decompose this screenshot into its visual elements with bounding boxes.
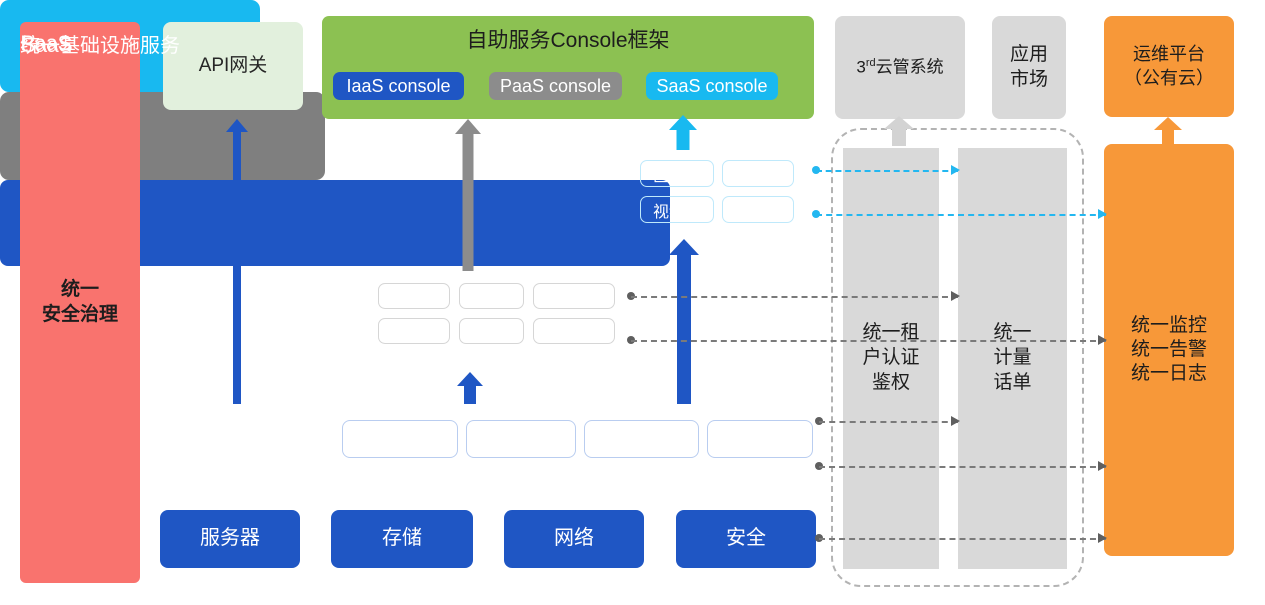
api-gateway-box[interactable]: API网关 [163, 22, 303, 110]
resource-box-network[interactable]: 网络 [504, 510, 644, 568]
connector-arrowhead-iaas-ops-icon [1098, 461, 1107, 471]
arrow-to-third-party-cloud-icon [884, 116, 914, 146]
architecture-diagram: 统一 安全治理 API网关 自助服务Console框架 IaaS console… [0, 0, 1265, 605]
iaas-chip-cce-label: CCE [739, 428, 781, 451]
paas-chip-cache-label: 缓存 [476, 321, 506, 342]
connector-saas-to-ops [816, 214, 1106, 216]
paas-chip-dgc-label: DGC [475, 288, 508, 305]
app-market-label: 应用 市场 [1010, 43, 1048, 92]
paas-chip-roma[interactable]: ROMA [378, 283, 450, 309]
auth-line-2: 户认证 [862, 346, 919, 371]
ops-platform-label: 运维平台 （公有云） [1124, 43, 1214, 89]
unified-tenant-auth-label: 统一租 户认证 鉴权 [862, 321, 919, 395]
iaas-chip-compute-label: Compute [359, 428, 440, 451]
arrow-to-ops-platform-icon [1154, 117, 1182, 146]
arrow-iaas-to-saas-icon [669, 239, 699, 404]
resource-box-server[interactable]: 服务器 [160, 510, 300, 568]
console-framework-title: 自助服务Console框架 [322, 28, 814, 55]
ops-platform-line-1: 运维平台 [1124, 43, 1214, 66]
connector-resources-to-ops [819, 538, 1106, 540]
paas-chip-modelarts-label: ModelArts [540, 288, 608, 305]
third-party-cloud-management-box[interactable]: 3rd云管系统 [835, 16, 965, 119]
resource-box-server-label: 服务器 [200, 526, 260, 552]
iaas-chip-network-label: Network [605, 428, 678, 451]
connector-iaas-to-auth [819, 421, 958, 423]
third-party-suffix: 云管系统 [876, 58, 944, 77]
iaas-chip-network[interactable]: Network [584, 420, 699, 458]
resource-box-storage[interactable]: 存储 [331, 510, 473, 568]
resource-box-security[interactable]: 安全 [676, 510, 816, 568]
paas-console-label: PaaS console [500, 76, 611, 97]
saas-chip-desktop-cloud-label: 桌面云 [734, 198, 782, 222]
paas-chip-dgc[interactable]: DGC [459, 283, 524, 309]
iaas-chip-compute[interactable]: Compute [342, 420, 458, 458]
self-service-console-framework-box[interactable]: 自助服务Console框架 [322, 16, 814, 119]
auth-line-3: 鉴权 [862, 371, 919, 396]
saas-console-label: SaaS console [656, 76, 767, 97]
iaas-chip-cce[interactable]: CCE [707, 420, 813, 458]
saas-chip-desktop-cloud[interactable]: 桌面云 [722, 196, 794, 223]
unified-metering-billing-box[interactable]: 统一 计量 话单 [958, 148, 1067, 569]
saas-chip-blockchain-label: 区块链 [653, 162, 701, 186]
third-party-superscript: rd [866, 57, 876, 69]
unified-security-governance-box[interactable]: 统一 安全治理 [20, 22, 140, 583]
iaas-chip-storage[interactable]: Storage [466, 420, 576, 458]
unified-tenant-auth-box[interactable]: 统一租 户认证 鉴权 [843, 148, 939, 569]
resource-box-security-label: 安全 [726, 526, 766, 552]
security-line-1: 统一 [42, 278, 118, 302]
connector-arrowhead-saas-auth-icon [951, 165, 960, 175]
paas-chip-database[interactable]: 数据库 [378, 318, 450, 344]
auth-line-1: 统一租 [862, 321, 919, 346]
unified-monitoring-box[interactable]: 统一监控 统一告警 统一日志 [1104, 144, 1234, 556]
paas-chip-modelarts[interactable]: ModelArts [533, 283, 615, 309]
paas-chip-roma-label: ROMA [392, 288, 437, 305]
meter-line-1: 统一 [993, 321, 1031, 346]
resource-box-storage-label: 存储 [382, 526, 422, 552]
unified-metering-billing-label: 统一 计量 话单 [993, 321, 1031, 395]
app-market-line-2: 市场 [1010, 68, 1048, 92]
monitor-line-1: 统一监控 [1131, 314, 1207, 338]
saas-chip-iot[interactable]: IoT [722, 160, 794, 187]
connector-arrowhead-paas-ops-icon [1098, 335, 1107, 345]
ops-platform-line-2: （公有云） [1124, 67, 1214, 90]
saas-console-chip[interactable]: SaaS console [646, 72, 778, 100]
connector-paas-to-ops [631, 340, 1106, 342]
meter-line-2: 计量 [993, 346, 1031, 371]
meter-line-3: 话单 [993, 371, 1031, 396]
iaas-chip-storage-label: Storage [486, 428, 556, 451]
unified-security-governance-label: 统一 安全治理 [42, 278, 118, 327]
resource-box-network-label: 网络 [554, 526, 594, 552]
paas-chip-cache[interactable]: 缓存 [459, 318, 524, 344]
app-market-line-1: 应用 [1010, 43, 1048, 67]
connector-arrowhead-paas-auth-icon [951, 291, 960, 301]
paas-chip-database-label: 数据库 [391, 321, 436, 342]
connector-iaas-to-ops [819, 466, 1106, 468]
paas-chip-big-data-label: 大数据 [551, 321, 596, 342]
iaas-console-chip[interactable]: IaaS console [333, 72, 464, 100]
monitor-line-3: 统一日志 [1131, 362, 1207, 386]
api-gateway-label: API网关 [199, 54, 268, 78]
connector-paas-to-auth [631, 296, 958, 298]
arrow-saas-to-console-icon [669, 115, 697, 150]
security-line-2: 安全治理 [42, 303, 118, 327]
unified-monitoring-label: 统一监控 统一告警 统一日志 [1131, 314, 1207, 387]
connector-arrowhead-saas-ops-icon [1098, 209, 1107, 219]
arrow-paas-to-console-icon [455, 119, 481, 271]
connector-arrowhead-iaas-auth-icon [951, 416, 960, 426]
unified-infrastructure-service-label: 统一基础设施服务 [20, 0, 180, 86]
arrow-iaas-to-api-gateway-icon [226, 119, 248, 404]
iaas-console-label: IaaS console [346, 76, 450, 97]
third-party-prefix: 3 [856, 58, 865, 77]
app-market-box[interactable]: 应用 市场 [992, 16, 1066, 119]
third-party-cloud-management-label: 3rd云管系统 [856, 56, 943, 78]
connector-arrowhead-resources-ops-icon [1098, 533, 1107, 543]
monitor-line-2: 统一告警 [1131, 338, 1207, 362]
connector-saas-to-auth [816, 170, 958, 172]
saas-chip-iot-label: IoT [746, 165, 769, 183]
ops-platform-public-cloud-box[interactable]: 运维平台 （公有云） [1104, 16, 1234, 117]
saas-chip-video-cloud-label: 视频云 [653, 198, 701, 222]
arrow-iaas-to-paas-icon [457, 372, 483, 404]
paas-console-chip[interactable]: PaaS console [489, 72, 622, 100]
paas-chip-big-data[interactable]: 大数据 [533, 318, 615, 344]
saas-chip-video-cloud[interactable]: 视频云 [640, 196, 714, 223]
saas-chip-blockchain[interactable]: 区块链 [640, 160, 714, 187]
